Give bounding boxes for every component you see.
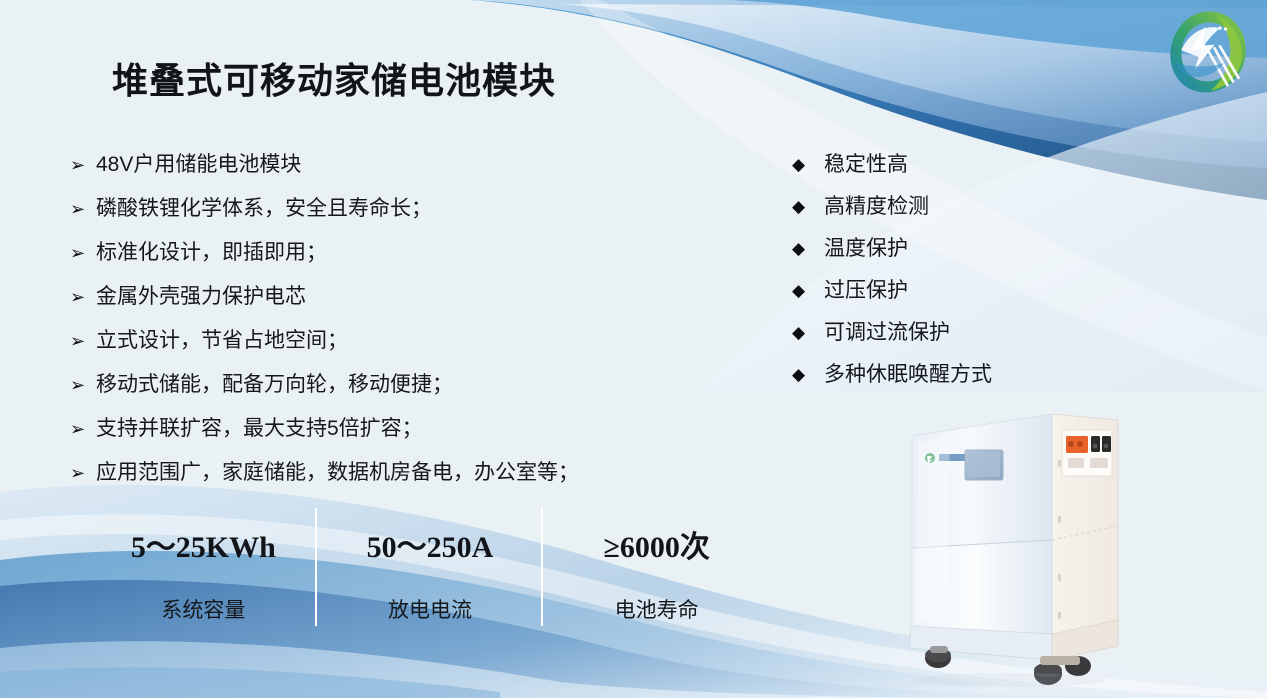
spec-current: 50～250A 放电电流 <box>317 508 544 626</box>
arrow-bullet-icon: ➢ <box>70 150 96 180</box>
feature-label: 移动式储能，配备万向轮，移动便捷； <box>96 370 453 400</box>
list-item: ◆ 可调过流保护 <box>792 318 1092 360</box>
arrow-bullet-icon: ➢ <box>70 458 96 488</box>
diamond-bullet-icon: ◆ <box>792 150 824 180</box>
protection-label: 可调过流保护 <box>824 318 950 348</box>
list-item: ➢ 磷酸铁锂化学体系，安全且寿命长； <box>70 194 730 238</box>
spec-label: 电池寿命 <box>543 594 770 624</box>
leaf-lightning-circle-icon <box>1163 6 1255 98</box>
arrow-bullet-icon: ➢ <box>70 326 96 356</box>
list-item: ◆ 过压保护 <box>792 276 1092 318</box>
feature-label: 应用范围广，家庭储能，数据机房备电，办公室等； <box>96 458 579 488</box>
specs-summary: 5～25KWh 系统容量 50～250A 放电电流 ≥6000次 电池寿命 <box>90 508 770 626</box>
list-item: ◆ 温度保护 <box>792 234 1092 276</box>
diamond-bullet-icon: ◆ <box>792 318 824 348</box>
protection-list: ◆ 稳定性高 ◆ 高精度检测 ◆ 温度保护 ◆ 过压保护 ◆ 可调过流保护 ◆ … <box>792 150 1092 402</box>
protection-label: 稳定性高 <box>824 150 908 180</box>
spec-capacity: 5～25KWh 系统容量 <box>90 508 317 626</box>
feature-label: 磷酸铁锂化学体系，安全且寿命长； <box>96 194 432 224</box>
battery-cabinet-illustration <box>890 398 1160 688</box>
product-image <box>890 398 1160 688</box>
diamond-bullet-icon: ◆ <box>792 276 824 306</box>
arrow-bullet-icon: ➢ <box>70 194 96 224</box>
terminal-block-positive <box>1066 436 1088 453</box>
feature-label: 支持并联扩容，最大支持5倍扩容； <box>96 414 423 444</box>
page-title: 堆叠式可移动家储电池模块 <box>112 52 556 104</box>
feature-label: 标准化设计，即插即用； <box>96 238 327 268</box>
protection-label: 多种休眠唤醒方式 <box>824 360 992 390</box>
spec-label: 放电电流 <box>317 594 544 624</box>
protection-label: 过压保护 <box>824 276 908 306</box>
diamond-bullet-icon: ◆ <box>792 192 824 222</box>
list-item: ➢ 移动式储能，配备万向轮，移动便捷； <box>70 370 730 414</box>
spec-cycle-life: ≥6000次 电池寿命 <box>543 508 770 626</box>
company-logo <box>1163 6 1255 98</box>
list-item: ➢ 立式设计，节省占地空间； <box>70 326 730 370</box>
list-item: ◆ 稳定性高 <box>792 150 1092 192</box>
feature-list: ➢ 48V户用储能电池模块 ➢ 磷酸铁锂化学体系，安全且寿命长； ➢ 标准化设计… <box>70 150 730 502</box>
protection-label: 温度保护 <box>824 234 908 264</box>
list-item: ➢ 标准化设计，即插即用； <box>70 238 730 282</box>
spec-label: 系统容量 <box>90 594 317 624</box>
list-item: ➢ 应用范围广，家庭储能，数据机房备电，办公室等； <box>70 458 730 502</box>
arrow-bullet-icon: ➢ <box>70 238 96 268</box>
arrow-bullet-icon: ➢ <box>70 414 96 444</box>
feature-label: 金属外壳强力保护电芯 <box>96 282 306 312</box>
feature-label: 48V户用储能电池模块 <box>96 150 301 180</box>
diamond-bullet-icon: ◆ <box>792 234 824 264</box>
arrow-bullet-icon: ➢ <box>70 282 96 312</box>
list-item: ◆ 高精度检测 <box>792 192 1092 234</box>
list-item: ➢ 支持并联扩容，最大支持5倍扩容； <box>70 414 730 458</box>
list-item: ➢ 48V户用储能电池模块 <box>70 150 730 194</box>
arrow-bullet-icon: ➢ <box>70 370 96 400</box>
protection-label: 高精度检测 <box>824 192 929 222</box>
slide-root: 堆叠式可移动家储电池模块 ➢ 48V户用储能电池模块 ➢ 磷酸铁锂化学体系，安全… <box>0 0 1267 698</box>
spec-value: 5～25KWh <box>90 522 317 566</box>
spec-value: 50～250A <box>317 522 544 566</box>
list-item: ◆ 多种休眠唤醒方式 <box>792 360 1092 402</box>
spec-value: ≥6000次 <box>543 522 770 566</box>
list-item: ➢ 金属外壳强力保护电芯 <box>70 282 730 326</box>
diamond-bullet-icon: ◆ <box>792 360 824 390</box>
feature-label: 立式设计，节省占地空间； <box>96 326 348 356</box>
